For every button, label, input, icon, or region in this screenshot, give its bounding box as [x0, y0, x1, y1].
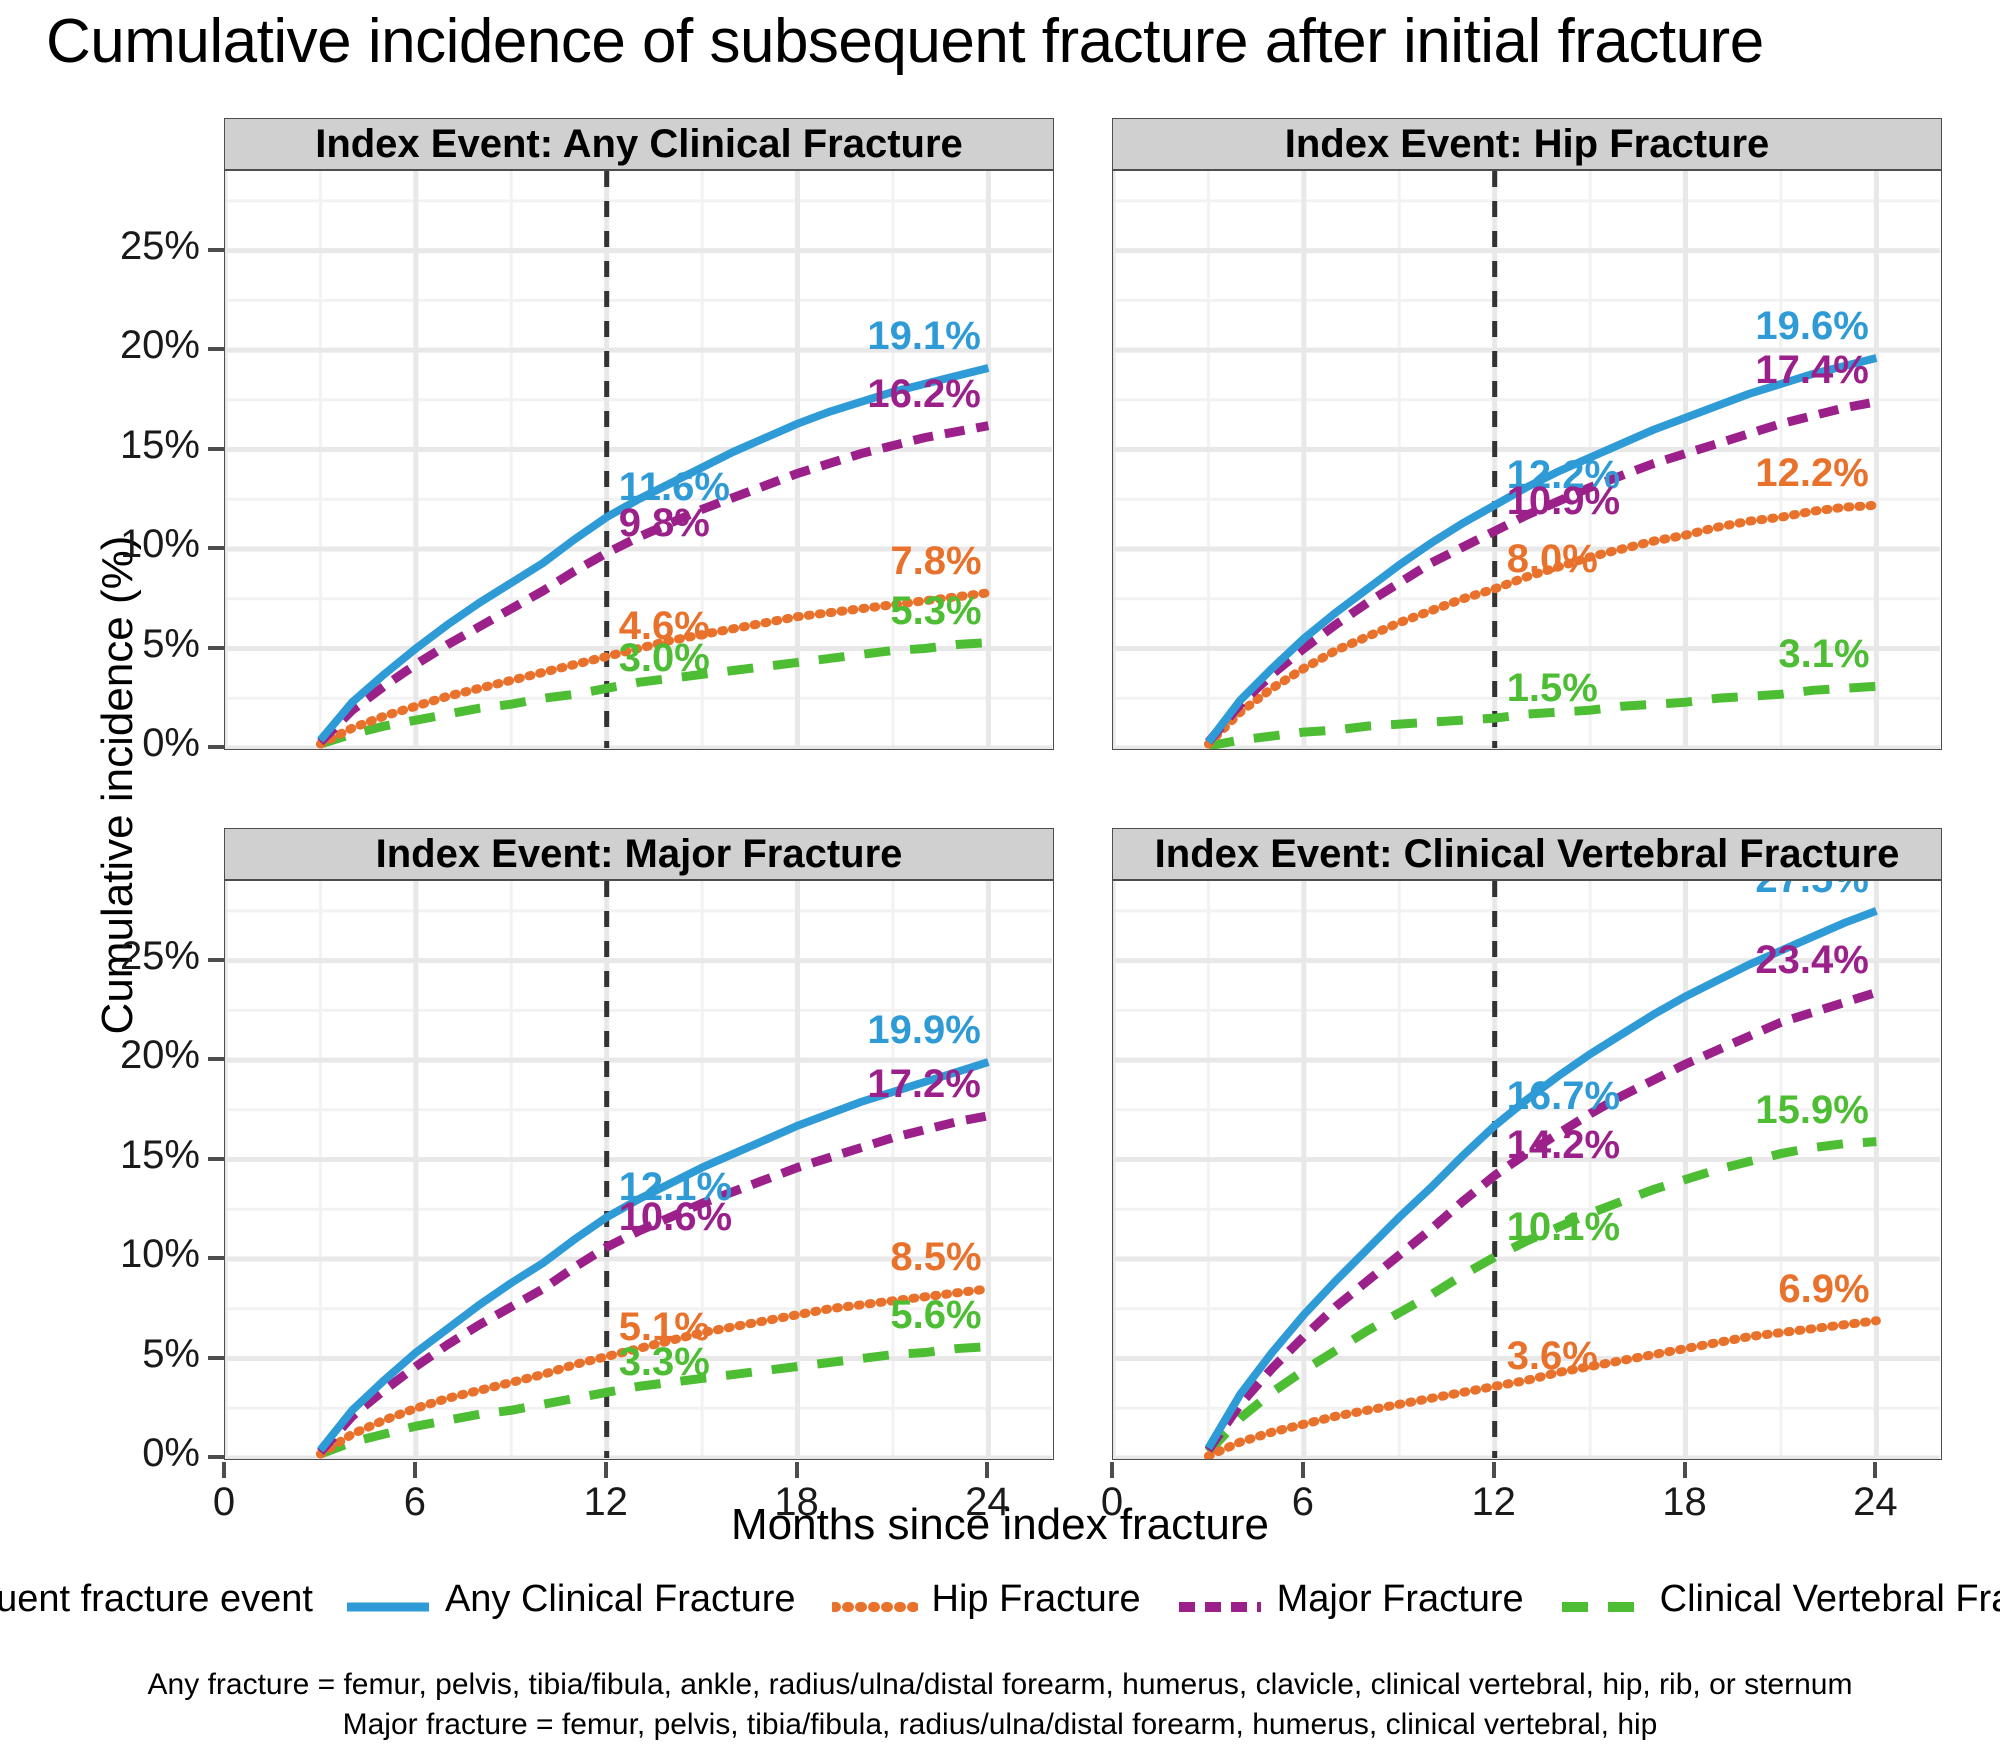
legend-item[interactable]: Clinical Vertebral Fracture: [1560, 1578, 2000, 1621]
y-tick-label: 15%: [4, 1133, 200, 1178]
x-tick-label: 12: [546, 1480, 666, 1525]
x-tick-mark: [1683, 1462, 1687, 1478]
y-tick-mark: [208, 1157, 224, 1161]
x-tick-mark: [604, 1462, 608, 1478]
y-tick-label: 25%: [4, 934, 200, 979]
page-title: Cumulative incidence of subsequent fract…: [46, 6, 1764, 77]
series-line: [1208, 505, 1876, 744]
facet-strip-label: Index Event: Any Clinical Fracture: [224, 118, 1054, 170]
facet-strip-label: Index Event: Hip Fracture: [1112, 118, 1942, 170]
series-line: [1208, 1321, 1876, 1456]
facet-panel: Index Event: Hip Fracture12.2%19.6%10.9%…: [1112, 118, 1942, 750]
x-tick-mark: [795, 1462, 799, 1478]
plot-area: 12.1%19.9%10.6%17.2%5.1%8.5%3.3%5.6%: [224, 880, 1054, 1460]
y-tick-label: 0%: [4, 721, 200, 766]
legend: Subsequent fracture event Any Clinical F…: [0, 1578, 2000, 1621]
y-tick-mark: [208, 958, 224, 962]
x-tick-mark: [1873, 1462, 1877, 1478]
y-tick-label: 0%: [4, 1431, 200, 1476]
x-tick-label: 0: [164, 1480, 284, 1525]
facet-strip-label: Index Event: Major Fracture: [224, 828, 1054, 880]
y-tick-mark: [208, 546, 224, 550]
y-tick-label: 25%: [4, 224, 200, 269]
x-tick-mark: [1110, 1462, 1114, 1478]
legend-item[interactable]: Any Clinical Fracture: [345, 1578, 796, 1621]
y-tick-mark: [208, 1057, 224, 1061]
y-tick-label: 10%: [4, 1232, 200, 1277]
facet-panel: Index Event: Major Fracture12.1%19.9%10.…: [224, 828, 1054, 1460]
x-tick-label: 24: [1815, 1480, 1935, 1525]
legend-item-label: Any Clinical Fracture: [445, 1578, 796, 1621]
y-tick-label: 10%: [4, 522, 200, 567]
y-tick-label: 20%: [4, 323, 200, 368]
x-tick-label: 0: [1052, 1480, 1172, 1525]
facet-strip-label: Index Event: Clinical Vertebral Fracture: [1112, 828, 1942, 880]
series-line: [320, 1116, 988, 1452]
x-tick-label: 6: [355, 1480, 475, 1525]
x-tick-label: 18: [737, 1480, 857, 1525]
footnote-any-fracture: Any fracture = femur, pelvis, tibia/fibu…: [0, 1668, 2000, 1702]
legend-key-icon: [1560, 1587, 1646, 1613]
legend-item-label: Hip Fracture: [932, 1578, 1141, 1621]
plot-area: 11.6%19.1%9.8%16.2%4.6%7.8%3.0%5.3%: [224, 170, 1054, 750]
y-tick-mark: [208, 1256, 224, 1260]
y-tick-label: 15%: [4, 423, 200, 468]
y-tick-mark: [208, 248, 224, 252]
legend-item-label: Clinical Vertebral Fracture: [1660, 1578, 2000, 1621]
series-line: [1208, 1142, 1876, 1452]
plot-area: 16.7%27.5%14.2%23.4%3.6%6.9%10.1%15.9%: [1112, 880, 1942, 1460]
y-tick-mark: [208, 646, 224, 650]
x-tick-mark: [1492, 1462, 1496, 1478]
y-tick-label: 20%: [4, 1033, 200, 1078]
x-tick-mark: [222, 1462, 226, 1478]
x-tick-mark: [985, 1462, 989, 1478]
facet-grid: Index Event: Any Clinical Fracture11.6%1…: [224, 118, 1944, 1428]
y-tick-label: 5%: [4, 622, 200, 667]
y-tick-mark: [208, 1356, 224, 1360]
y-tick-mark: [208, 745, 224, 749]
x-tick-mark: [413, 1462, 417, 1478]
y-tick-mark: [208, 447, 224, 451]
series-line: [320, 426, 988, 742]
y-tick-label: 5%: [4, 1332, 200, 1377]
series-line: [1208, 686, 1876, 746]
figure-root: Cumulative incidence of subsequent fract…: [0, 0, 2000, 1748]
legend-key-icon: [345, 1587, 431, 1613]
legend-item[interactable]: Hip Fracture: [832, 1578, 1141, 1621]
x-tick-label: 6: [1243, 1480, 1363, 1525]
x-tick-label: 18: [1625, 1480, 1745, 1525]
x-tick-mark: [1301, 1462, 1305, 1478]
legend-key-icon: [1177, 1587, 1263, 1613]
facet-panel: Index Event: Any Clinical Fracture11.6%1…: [224, 118, 1054, 750]
series-line: [320, 1062, 988, 1450]
legend-key-icon: [832, 1587, 918, 1613]
legend-item-label: Major Fracture: [1277, 1578, 1524, 1621]
legend-item[interactable]: Major Fracture: [1177, 1578, 1524, 1621]
footnote-major-fracture: Major fracture = femur, pelvis, tibia/fi…: [0, 1708, 2000, 1742]
plot-area: 12.2%19.6%10.9%17.4%8.0%12.2%1.5%3.1%: [1112, 170, 1942, 750]
y-tick-mark: [208, 1455, 224, 1459]
facet-panel: Index Event: Clinical Vertebral Fracture…: [1112, 828, 1942, 1460]
series-line: [1208, 911, 1876, 1448]
x-tick-label: 24: [927, 1480, 1047, 1525]
y-tick-mark: [208, 347, 224, 351]
x-tick-label: 12: [1434, 1480, 1554, 1525]
legend-title: Subsequent fracture event: [0, 1578, 313, 1621]
